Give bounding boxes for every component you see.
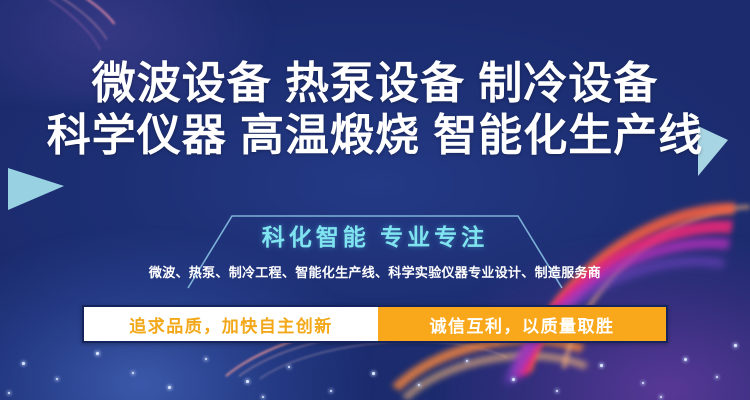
headline-line-2: 科学仪器 高温煅烧 智能化生产线 (0, 110, 750, 162)
headline-group: 微波设备 热泵设备 制冷设备 科学仪器 高温煅烧 智能化生产线 (0, 58, 750, 162)
left-arrow-icon (8, 168, 64, 210)
business-description: 微波、热泵、制冷工程、智能化生产线、科学实验仪器专业设计、制造服务商 (0, 262, 750, 281)
promo-banner: 微波设备 热泵设备 制冷设备 科学仪器 高温煅烧 智能化生产线 科化智能 专业专… (0, 0, 750, 400)
headline-line-1: 微波设备 热泵设备 制冷设备 (0, 58, 750, 110)
cyan-slogan: 科化智能 专业专注 (0, 218, 750, 252)
pill-integrity-slogan[interactable]: 诚信互利，以质量取胜 (378, 307, 666, 341)
pill-quality-slogan[interactable]: 追求品质，加快自主创新 (84, 307, 378, 341)
slogan-pill-group: 追求品质，加快自主创新 诚信互利，以质量取胜 (82, 305, 668, 343)
